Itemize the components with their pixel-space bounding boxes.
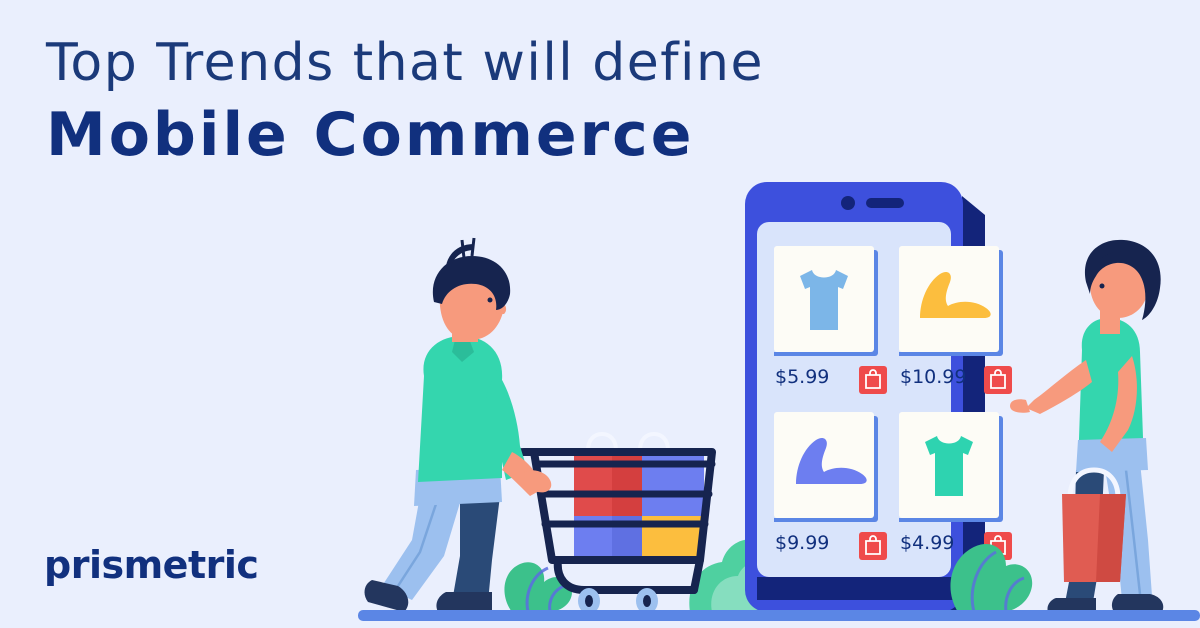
- product-card-heel-yellow[interactable]: [899, 246, 1003, 356]
- woman-with-shopping-bag: [1010, 240, 1163, 612]
- ground-bar: [358, 610, 1200, 621]
- price-label-heel-purple: $9.99: [775, 532, 829, 554]
- product-card-heel-purple[interactable]: [774, 412, 878, 522]
- headline-line-1: Top Trends that will define: [46, 34, 966, 94]
- add-to-cart-button-1[interactable]: [859, 366, 887, 394]
- man-pushing-cart: [365, 238, 552, 612]
- speaker-slot-icon: [866, 198, 904, 208]
- headline-line-2: Mobile Commerce: [46, 100, 966, 171]
- price-label-t-shirt-teal: $4.99: [900, 532, 954, 554]
- marketing-banner: $5.99 $10.99 $9.99 $4.99 Top Trends that…: [0, 0, 1200, 628]
- brand-logo: prismetric: [44, 543, 258, 587]
- headline-block: Top Trends that will define Mobile Comme…: [46, 34, 966, 171]
- price-label-t-shirt-blue: $5.99: [775, 366, 829, 388]
- add-to-cart-button-2[interactable]: [984, 366, 1012, 394]
- product-card-t-shirt-teal[interactable]: [899, 412, 1003, 522]
- product-card-t-shirt-blue[interactable]: [774, 246, 878, 356]
- shoe: [436, 592, 492, 612]
- price-label-heel-yellow: $10.99: [900, 366, 966, 388]
- add-to-cart-button-3[interactable]: [859, 532, 887, 560]
- hand: [1010, 399, 1030, 413]
- camera-dot-icon: [841, 196, 855, 210]
